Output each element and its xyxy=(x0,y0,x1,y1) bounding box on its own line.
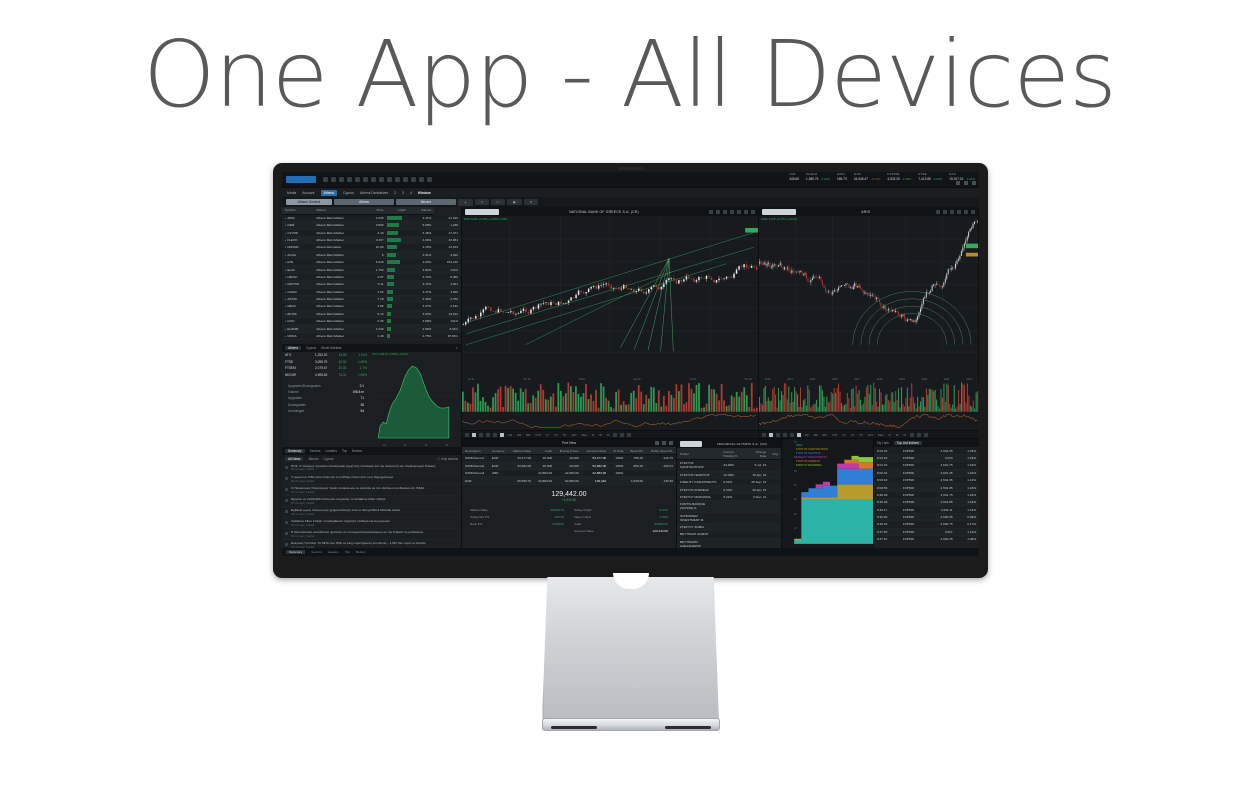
news-tab-athens[interactable]: Athens xyxy=(308,457,318,461)
news-timestamp: 31 min ago | Capital xyxy=(291,491,424,494)
news-headline[interactable]: Ο Παγκόσμιος Οργανισμός Υγείας ανακοίνωσ… xyxy=(291,487,424,491)
table-row[interactable]: LBNACAthens Main Market0.873.74%8,389 xyxy=(282,273,461,280)
table-row[interactable]: 8:47:50FXP5004,5271.14% xyxy=(874,528,979,535)
table-row[interactable]: IASOAthens Main Market0.353.08%134.6 xyxy=(282,318,461,325)
table-row[interactable]: SWIM Demo3GBP22,883.0022,883.0022,883.00… xyxy=(462,470,676,477)
timeframe-3m[interactable]: 3M xyxy=(516,433,522,437)
timesales-change: 1.14% xyxy=(956,476,979,483)
watchlist-volume: 13,012 xyxy=(434,310,461,317)
watchlist-symbol[interactable]: MEVA xyxy=(282,303,313,310)
status-bar[interactable]: SummarySectorsLeadersTopBottom xyxy=(282,548,979,556)
timeframe-5y[interactable]: 5Y xyxy=(562,433,568,437)
link-icon[interactable] xyxy=(403,177,408,182)
status-tab-summary[interactable]: Summary xyxy=(285,449,305,453)
watchlist-col-symbol[interactable]: Symbol xyxy=(282,207,313,214)
holder-date: 3 Dec, 12 xyxy=(747,493,769,500)
list-item[interactable]: Έρχεται σε 3,000,000 σπίτια και υπηρεσίε… xyxy=(282,496,461,507)
watchlist-price: 0.599 xyxy=(365,222,386,229)
xtick: 2017 xyxy=(854,378,860,381)
workspace-tabstrip[interactable]: Athens GeneralAthensMovers＋▾□▣✕ xyxy=(282,197,979,207)
chart-right-title: ARIG xyxy=(800,210,932,214)
chart-left-search-input[interactable] xyxy=(465,209,499,215)
news-bullet-icon xyxy=(285,510,288,513)
cursor-icon[interactable] xyxy=(465,433,469,437)
save-icon[interactable] xyxy=(339,177,344,182)
watchlist-col-volume[interactable]: Volume xyxy=(409,207,434,214)
minimize-icon[interactable] xyxy=(956,181,960,185)
account-summary-right: Today Chg%0.10%Value Chg%2.35%Cash62,883… xyxy=(574,507,668,535)
chart-right-header[interactable]: ARIG xyxy=(759,207,978,216)
index-change: 74.31 xyxy=(330,372,349,379)
table-row[interactable]: 8:40:17FXP5004,532.111.19% xyxy=(874,506,979,513)
news-tabs[interactable]: All NewsAthensCyprus☐ only actions xyxy=(282,455,461,463)
timeframe-bars[interactable]: 1M3M6MYTD1Y2Y5Y10YMaxDWM 1M3M6MYTD1Y2Y5Y… xyxy=(462,430,979,439)
holder-chg xyxy=(769,501,781,512)
zoom-icon[interactable] xyxy=(744,210,748,214)
chart-right-body[interactable]: ARIG 4.235 +0.179 (+4.41%) xyxy=(759,216,978,382)
stack-chart-yticks: 706050403020100 xyxy=(794,441,802,544)
toolbar-icon-group[interactable] xyxy=(323,177,432,182)
close-icon[interactable] xyxy=(924,433,928,437)
text-icon[interactable] xyxy=(479,433,483,437)
draw-icon[interactable] xyxy=(964,210,968,214)
add-tab-icon[interactable]: ＋ xyxy=(458,199,473,206)
list-item[interactable]: Η Θεσσαλονίκη κατεύθυνσή φροντίζει σε συ… xyxy=(282,529,461,540)
window-controls[interactable] xyxy=(956,181,976,185)
watchlist-change: 4.01% xyxy=(409,251,434,258)
timeframe-m[interactable]: M xyxy=(606,433,610,437)
table-row[interactable]: 8:01:33FXP5004,531.751.19% xyxy=(874,462,979,469)
menu-item-account[interactable]: Account xyxy=(302,191,314,195)
portfolio-table[interactable]: DescriptionCurrencyMarket ValueCashBuyin… xyxy=(462,447,676,484)
news-list[interactable]: ΠΟΣ: Ο πόλεμος προκαλεί κατακόρυφη ζημιά… xyxy=(282,463,461,556)
statusbar-bottom[interactable]: Bottom xyxy=(356,550,366,554)
xtick: 70 xyxy=(794,441,802,444)
menu-item-cyprus[interactable]: Cyprus xyxy=(343,191,354,195)
menu-item-media[interactable]: Media xyxy=(287,191,296,195)
ticker-value: 34,945.47 xyxy=(854,177,868,181)
holders-header[interactable]: TECHNICAL OLYMPIC S.A. (CR) xyxy=(677,439,781,448)
xtick: 60 xyxy=(794,456,802,459)
timeframe-bar-right[interactable]: 1M3M6MYTD1Y2Y5Y10YMaxDWM xyxy=(759,430,979,439)
chart-left-tools[interactable] xyxy=(709,210,755,214)
chart-type-icon[interactable] xyxy=(500,433,504,437)
timeframe-d[interactable]: D xyxy=(888,433,892,437)
status-tab-top[interactable]: Top xyxy=(342,449,347,453)
statusbar-sectors[interactable]: Sectors xyxy=(311,550,322,554)
watchlist-symbol[interactable]: FIER xyxy=(282,222,313,229)
table-row[interactable]: BIOSKAthens Main Market5.133.02%13,012 xyxy=(282,310,461,317)
indices-tab-world-markets[interactable]: World Markets xyxy=(321,346,342,350)
index-row[interactable]: FTSEM2,079.6720.351.7% xyxy=(282,365,370,372)
timeframe-d[interactable]: D xyxy=(591,433,595,437)
watchlist-price: 0.35 xyxy=(365,318,386,325)
watchlist-bar xyxy=(387,325,409,332)
timesales-symbol: FXP500 xyxy=(900,469,927,476)
menu-item-athens-derivatives[interactable]: Athens Derivatives xyxy=(360,191,388,195)
menu-item-3[interactable]: 3 xyxy=(402,191,404,195)
timeframe-w[interactable]: W xyxy=(895,433,900,437)
table-row[interactable]: ARIGAthens Main Market4.2354.41%21,315 xyxy=(282,214,461,221)
watchlist-symbol[interactable]: ARIG xyxy=(282,214,313,221)
green-bar xyxy=(387,245,398,249)
print-icon[interactable] xyxy=(347,177,352,182)
status-tab-sectors[interactable]: Sectors xyxy=(310,449,321,453)
timeframe-10y[interactable]: 10Y xyxy=(867,433,874,437)
table-row[interactable]: EUROBAthens Main Market1.6462.80%8,39 k xyxy=(282,325,461,332)
grid-icon[interactable] xyxy=(363,177,368,182)
timesales-change: 1.14% xyxy=(956,528,979,535)
timeframe-3m[interactable]: 3M xyxy=(813,433,819,437)
open-icon[interactable] xyxy=(331,177,336,182)
table-row[interactable]: FORTIS BANQUE (SUISSE) S. xyxy=(677,501,781,512)
portfolio-body[interactable]: SWIM Demo1EUR33,177.0020,00020,00053,177… xyxy=(462,455,676,485)
index-row[interactable]: NKGIIR4,905.6374.311.53% xyxy=(282,372,370,379)
summary-value: 2.35% xyxy=(659,515,668,519)
table-row[interactable]: ELVAAthens Main Market1.7523.84%143.6 xyxy=(282,266,461,273)
watchlist-price: 5.13 xyxy=(365,310,386,317)
timeframe-w[interactable]: W xyxy=(598,433,603,437)
portfolio-bp: 62,883.00 xyxy=(555,477,582,484)
watchlist-col-price[interactable]: Price xyxy=(365,207,386,214)
fib-arc-icon[interactable] xyxy=(957,210,961,214)
portfolio-tpl: -152.01 xyxy=(646,462,676,469)
timesales-change: 1.16% xyxy=(956,469,979,476)
xtick: 2018 xyxy=(877,378,883,381)
watchlist-symbol[interactable]: ELVA xyxy=(282,266,313,273)
list-item[interactable]: Ο Παγκόσμιος Οργανισμός Υγείας ανακοίνωσ… xyxy=(282,485,461,496)
table-row[interactable]: 8:40:25FXP5004,530.750.17% xyxy=(874,521,979,528)
watchlist-symbol[interactable]: LBNAC xyxy=(282,273,313,280)
timesales-change: 1.16% xyxy=(956,484,979,491)
only-actions-checkbox[interactable]: ☐ only actions xyxy=(437,457,458,461)
text-icon[interactable] xyxy=(776,433,780,437)
timeframe-6m[interactable]: 6M xyxy=(525,433,531,437)
timesales-table[interactable]: 8:01:04FXP5004,532.251.29%8:01:23FXP5004… xyxy=(874,447,979,543)
table-row[interactable]: ΣΤΕΓΓΟΣ ΓΕΩΡΓΙΟΣ12.03%16 Apr, 15 xyxy=(677,471,781,478)
pencil-icon[interactable] xyxy=(472,433,476,437)
watchlist-col-market[interactable]: Market xyxy=(313,207,365,214)
index-stat-value: 198.8 m xyxy=(352,390,364,394)
index-row[interactable]: ATG1,253.2013.851.11% xyxy=(282,352,370,359)
table-row[interactable]: 8:03:18FXP5004,532.351.14% xyxy=(874,476,979,483)
maximize-icon[interactable] xyxy=(964,181,968,185)
portfolio-desc: SWIM Demo2 xyxy=(462,462,489,469)
ticker-row: 445.60 xyxy=(789,177,799,181)
stack-series xyxy=(794,500,873,544)
chart-icon[interactable] xyxy=(355,177,360,182)
table-row[interactable]: MEVAAthens Main Market3.863.27%2,192 xyxy=(282,303,461,310)
watchlist-volume: 21,315 xyxy=(434,214,461,221)
table-row[interactable]: ΣΤΕΓΓΟΥ ΣΟΦΙΑ xyxy=(677,523,781,530)
menu-bar[interactable]: MediaAccountAthensCyprusAthens Derivativ… xyxy=(282,188,979,197)
timesales-time: 8:47:51 xyxy=(874,535,900,542)
news-headline[interactable]: Τι φορά στο ΠΑΣ είναι πλοίο και το στάθη… xyxy=(291,476,393,480)
table-row[interactable]: ACAGAthens Main Market64.01%4,012 xyxy=(282,251,461,258)
trendline-icon[interactable] xyxy=(723,210,727,214)
table-row[interactable]: SCHRODER INVESTMENT M. xyxy=(677,512,781,523)
table-row[interactable]: 8:01:04FXP5004,532.251.29% xyxy=(874,447,979,454)
timesales-tab-my-lists[interactable]: My Lists xyxy=(877,441,889,445)
table-row[interactable]: ETEAthens Main Market6.0284.29%153,216 xyxy=(282,259,461,266)
portfolio-col-bookpl: Book P/L xyxy=(626,447,646,454)
timeframe-max[interactable]: Max xyxy=(877,433,884,437)
chart-left-body[interactable]: ETE 6.028 +0.248 (+4.29%) 4.29% xyxy=(462,216,758,382)
timeframe-10y[interactable]: 10Y xyxy=(570,433,577,437)
timeframe-ytd[interactable]: YTD xyxy=(831,433,839,437)
close-icon[interactable] xyxy=(627,433,631,437)
table-row[interactable]: SWIM Demo1EUR33,177.0020,00020,00053,177… xyxy=(462,455,676,462)
maximize-icon[interactable] xyxy=(662,441,666,445)
chart-settings-icon[interactable] xyxy=(971,210,975,214)
timesales-tab-top-list-indices[interactable]: Top List Indices xyxy=(894,441,922,445)
watchlist-symbol[interactable]: DMAND xyxy=(282,244,313,251)
expand-icon[interactable] xyxy=(917,433,921,437)
new-icon[interactable] xyxy=(323,177,328,182)
ticker-row: 1,980.750.12% xyxy=(806,177,830,182)
news-icon[interactable] xyxy=(387,177,392,182)
timeframe-6m[interactable]: 6M xyxy=(822,433,828,437)
watchlist-symbol[interactable]: EUROB xyxy=(282,325,313,332)
chart-right-search-input[interactable] xyxy=(762,209,796,215)
settings-icon[interactable] xyxy=(910,433,914,437)
index-stat-value: 38 xyxy=(360,403,364,407)
draw-icon[interactable] xyxy=(737,210,741,214)
close-icon[interactable] xyxy=(972,181,976,185)
table-row[interactable]: GGMAAthens Main Market2.523.37%4,530 xyxy=(282,288,461,295)
timesales-price: 4,530.75 xyxy=(927,521,956,528)
chart-settings-icon[interactable] xyxy=(751,210,755,214)
news-status-tabs[interactable]: SummarySectorsLeadersTopBottom xyxy=(282,447,461,455)
fib-icon[interactable] xyxy=(730,210,734,214)
timesales-change: 1.19% xyxy=(956,462,979,469)
watchlist-symbol[interactable]: MODA xyxy=(282,332,313,339)
status-tab-leaders[interactable]: Leaders xyxy=(325,449,337,453)
tab-athens[interactable]: Athens xyxy=(334,199,394,205)
maximize-icon[interactable]: ▣ xyxy=(507,199,522,205)
portfolio-pct: 100% xyxy=(609,470,626,477)
timeframe-bar-left[interactable]: 1M3M6MYTD1Y2Y5Y10YMaxDWM xyxy=(462,430,759,439)
shape-icon[interactable] xyxy=(493,433,497,437)
menu-item-window[interactable]: Window xyxy=(418,191,431,195)
table-row[interactable]: ASTAKAthens Main Market7.183.46%3,766 xyxy=(282,295,461,302)
dropdown-icon[interactable]: ▾ xyxy=(475,199,489,205)
statusbar-leaders[interactable]: Leaders xyxy=(328,550,339,554)
watchlist-symbol[interactable]: MATHIO xyxy=(282,281,313,288)
index-stat-value: 71 xyxy=(360,396,364,400)
timesales-tabs[interactable]: My ListsTop List Indices xyxy=(874,439,979,447)
portfolio-col-buyingpower: Buying Power xyxy=(555,447,582,454)
watchlist-change: 4.15% xyxy=(409,244,434,251)
alert-icon[interactable] xyxy=(371,177,376,182)
index-change: 42.30 xyxy=(330,359,349,366)
watchlist-symbol[interactable]: GGMA xyxy=(282,288,313,295)
watchlist-symbol[interactable]: ASTAK xyxy=(282,295,313,302)
crosshair-icon[interactable] xyxy=(943,210,947,214)
table-row[interactable]: 8:40:00FXP5004,530.050.99% xyxy=(874,513,979,520)
table-row[interactable]: ΣΤΕΓΓΟΥ ΜΑΡΙΑΝΝΑ5.22%3 Dec, 12 xyxy=(677,493,781,500)
chart-pane-left[interactable]: NATIONAL BANK OF GREECE S.A. (CR) xyxy=(462,207,759,382)
portfolio-desc: SWIM Demo1 xyxy=(462,455,489,462)
table-row[interactable]: ΣΤΕΓΓΟΣ ΚΩΝΣΤΑΝΤΙΝΟΣ34.28%5 Jul, 19 xyxy=(677,460,781,471)
news-bullet-icon xyxy=(285,499,288,502)
arrow-icon[interactable] xyxy=(783,433,787,437)
settings-icon[interactable] xyxy=(613,433,617,437)
restore-icon[interactable]: □ xyxy=(491,199,505,205)
statusbar-summary[interactable]: Summary xyxy=(286,550,305,554)
watchlist-bar xyxy=(387,288,409,295)
chart-type-icon[interactable] xyxy=(797,433,801,437)
pencil-icon[interactable] xyxy=(769,433,773,437)
menu-item-4[interactable]: 4 xyxy=(410,191,412,195)
chart-pane-right[interactable]: ARIG xyxy=(759,207,979,382)
ticker-value: 445.60 xyxy=(789,177,799,181)
xtick: 2013 xyxy=(765,378,771,381)
indices-tab-cyprus[interactable]: Cyprus xyxy=(306,346,316,350)
indices-panel-header[interactable]: AthensCyprusWorld Markets✕ xyxy=(282,344,461,352)
holders-table[interactable]: HolderCurrent Holding %Change DateChg ΣΤ… xyxy=(677,448,781,550)
timeframe-max[interactable]: Max xyxy=(581,433,588,437)
table-row[interactable]: 8:02:01FXP5004,531.451.16% xyxy=(874,469,979,476)
timeframe-2y[interactable]: 2Y xyxy=(553,433,559,437)
timesales-price: 4,531.45 xyxy=(927,469,956,476)
holder-date: 28 Sep, 19 xyxy=(747,479,769,486)
index-pct: 1.11% xyxy=(349,352,370,359)
watchlist-market: Athens Main Market xyxy=(313,303,365,310)
table-row[interactable]: 8:47:51FXP5004,530.251.08% xyxy=(874,535,979,542)
table-row[interactable]: FIDELITY INVESTMENTS9.02%28 Sep, 19 xyxy=(677,479,781,486)
watchlist-symbol[interactable]: FLEXO xyxy=(282,236,313,243)
close-icon[interactable] xyxy=(669,441,673,445)
close-icon[interactable]: ✕ xyxy=(524,199,539,205)
timeframe-2y[interactable]: 2Y xyxy=(850,433,856,437)
cursor-icon[interactable] xyxy=(762,433,766,437)
timeframe-1y[interactable]: 1Y xyxy=(841,433,847,437)
settings-icon[interactable] xyxy=(419,177,424,182)
watchlist-price: 2.52 xyxy=(365,288,386,295)
table-row[interactable]: FIERAthens Main Market0.5995.28%1,238 xyxy=(282,222,461,229)
watchlist-table[interactable]: SymbolMarketPriceChg%Volume ARIGAthens M… xyxy=(282,207,461,340)
chart-left-header[interactable]: NATIONAL BANK OF GREECE S.A. (CR) xyxy=(462,207,758,216)
chart-right-tools[interactable] xyxy=(936,210,975,214)
index-stat-label: Upgrades xyxy=(288,396,302,400)
watchlist-symbol[interactable]: ACAG xyxy=(282,251,313,258)
timesales-price: 4,532.25 xyxy=(927,447,956,454)
menu-item-2[interactable]: 2 xyxy=(394,191,396,195)
timesales-time: 8:01:04 xyxy=(874,447,900,454)
portfolio-total-row[interactable]: EUR66,556.7062,883.0062,883.00129,4421,6… xyxy=(462,477,676,484)
table-row[interactable]: 8:01:23FXP5004,5331.19% xyxy=(874,454,979,461)
workspace: SymbolMarketPriceChg%Volume ARIGAthens M… xyxy=(282,207,979,556)
watchlist-symbol[interactable]: ETE xyxy=(282,259,313,266)
chart-right-note: ARIG 4.235 +0.179 (+4.41%) xyxy=(761,217,797,221)
trendline-icon[interactable] xyxy=(950,210,954,214)
table-row[interactable]: 8:40:38FXP5004,531.851.16% xyxy=(874,499,979,506)
table-row[interactable]: OLYMPAthens Main Market2.493.46%17,471 xyxy=(282,229,461,236)
status-tab-bottom[interactable]: Bottom xyxy=(352,449,362,453)
news-timestamp: 28 min ago | Capital xyxy=(291,480,393,483)
holders-search-input[interactable] xyxy=(680,441,702,447)
timeframe-1y[interactable]: 1Y xyxy=(545,433,551,437)
list-item[interactable]: Τι φορά στο ΠΑΣ είναι πλοίο και το στάθη… xyxy=(282,474,461,485)
table-row[interactable]: ΒΕΥΤΡΑΚΗ ΔΑΦΝΗ xyxy=(677,531,781,538)
list-item[interactable]: Vodafone Fiber 1Gbps: Απολάμβαναν ταχύτη… xyxy=(282,518,461,529)
table-row[interactable]: MATHIOAthens Main Market5.113.74%2,521 xyxy=(282,281,461,288)
table-row[interactable]: ΣΤΕΓΓΟΣ ΑΝΔΡΕΑΣ6.33%20 Apr, 15 xyxy=(677,486,781,493)
watchlist-col-chg[interactable]: Chg% xyxy=(387,207,409,214)
list-item[interactable]: ΠΟΣ: Ο πόλεμος προκαλεί κατακόρυφη ζημιά… xyxy=(282,463,461,474)
watchlist-price: 1.48 xyxy=(365,332,386,339)
news-tab-cyprus[interactable]: Cyprus xyxy=(323,457,333,461)
help-icon[interactable] xyxy=(427,177,432,182)
news-filter[interactable]: All News xyxy=(285,457,303,461)
indices-table[interactable]: ATG1,253.2013.851.11%FTSE3,055.7542.301.… xyxy=(282,352,370,378)
watchlist-symbol[interactable]: OLYMP xyxy=(282,229,313,236)
timeframe-1m[interactable]: 1M xyxy=(507,433,513,437)
watchlist-symbol[interactable]: IASO xyxy=(282,318,313,325)
watchlist-change: 3.84% xyxy=(409,266,434,273)
watchlist-body[interactable]: ARIGAthens Main Market4.2354.41%21,315FI… xyxy=(282,214,461,339)
tab-athens-general[interactable]: Athens General xyxy=(286,199,332,205)
cursor-icon[interactable] xyxy=(709,210,713,214)
timeframe-5y[interactable]: 5Y xyxy=(858,433,864,437)
index-symbol: ATG xyxy=(282,352,305,359)
news-timestamp: 28 min ago | Capital xyxy=(291,468,436,471)
scan-icon[interactable] xyxy=(395,177,400,182)
table-row[interactable]: DMANDAthens Alternative10.804.15%13,163 xyxy=(282,244,461,251)
portfolio-mv: 33,177.00 xyxy=(509,455,535,462)
watchlist-symbol[interactable]: BIOSK xyxy=(282,310,313,317)
summary-label: Cash xyxy=(574,522,581,526)
table-row[interactable]: SWIM Demo2EUR33,382.0020,00020,00053,382… xyxy=(462,462,676,469)
watchlist-market: Athens Main Market xyxy=(313,288,365,295)
menu-item-athens[interactable]: Athens xyxy=(321,190,338,196)
cursor-icon[interactable] xyxy=(936,210,940,214)
shape-icon[interactable] xyxy=(790,433,794,437)
tab-movers[interactable]: Movers xyxy=(396,199,456,205)
close-icon[interactable]: ✕ xyxy=(455,346,458,350)
timesales-time: 8:40:38 xyxy=(874,499,900,506)
portfolio-window-controls[interactable] xyxy=(655,441,673,445)
news-text-wrap: Η Θεσσαλονίκη κατεύθυνσή φροντίζει σε συ… xyxy=(291,531,423,538)
list-item[interactable]: Εμβόλια χωρίς πάτρωνα με χρηματοδότηση α… xyxy=(282,507,461,518)
timesales-body[interactable]: 8:01:04FXP5004,532.251.29%8:01:23FXP5004… xyxy=(874,447,979,542)
holders-body[interactable]: ΣΤΕΓΓΟΣ ΚΩΝΣΤΑΝΤΙΝΟΣ34.28%5 Jul, 19ΣΤΕΓΓ… xyxy=(677,460,781,550)
statusbar-top[interactable]: Top xyxy=(345,550,350,554)
refresh-icon[interactable] xyxy=(411,177,416,182)
index-row[interactable]: FTSE3,055.7542.301.40% xyxy=(282,359,370,366)
timesales-price: 4,531.85 xyxy=(927,499,956,506)
table-row[interactable]: MODAAthens Main Market1.482.75%87,88 k xyxy=(282,332,461,339)
crosshair-icon[interactable] xyxy=(716,210,720,214)
indices-tab-athens[interactable]: Athens xyxy=(285,346,301,350)
watchlist-header-row[interactable]: SymbolMarketPriceChg%Volume xyxy=(282,207,461,214)
watchlist-bar xyxy=(387,273,409,280)
arrow-icon[interactable] xyxy=(486,433,490,437)
table-row[interactable]: FLEXOAthens Main Market0.3374.09%43,961 xyxy=(282,236,461,243)
timeframe-m[interactable]: M xyxy=(902,433,906,437)
ticker-row: 34,945.47-0.13% xyxy=(854,177,881,182)
order-icon[interactable] xyxy=(379,177,384,182)
market-ticker-bar: LMT445.60PGOLD1,980.750.12%AAPL189.73DJI… xyxy=(789,173,975,182)
minimize-icon[interactable] xyxy=(655,441,659,445)
table-row[interactable]: 8:03:50FXP5004,531.051.16% xyxy=(874,484,979,491)
timeframe-ytd[interactable]: YTD xyxy=(534,433,542,437)
expand-icon[interactable] xyxy=(620,433,624,437)
timeframe-1m[interactable]: 1M xyxy=(804,433,810,437)
watchlist-market: Athens Main Market xyxy=(313,251,365,258)
table-row[interactable]: 8:40:09FXP5004,531.751.18% xyxy=(874,491,979,498)
